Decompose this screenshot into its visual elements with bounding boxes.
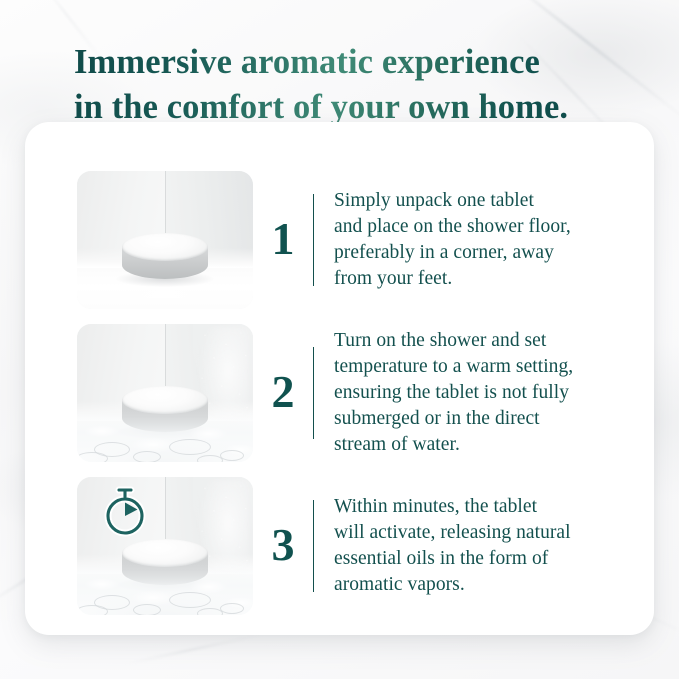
foam-bubble: [77, 452, 108, 462]
steps-list: 1 Simply unpack one tablet and place on …: [77, 170, 622, 616]
water-foam: [77, 407, 253, 462]
shower-tablet: [122, 233, 208, 279]
tablet-top: [122, 233, 208, 261]
foam-bubble: [197, 608, 223, 615]
foam-bubble: [169, 592, 211, 608]
foam-bubble: [220, 450, 244, 461]
step-item: 1 Simply unpack one tablet and place on …: [77, 170, 622, 310]
page-headline: Immersive aromatic experience in the com…: [74, 40, 634, 130]
foam-bubble: [169, 439, 211, 455]
step-2-image: [77, 324, 253, 462]
step-3-image: [77, 477, 253, 615]
step-description: Within minutes, the tablet will activate…: [334, 494, 622, 599]
water-foam: [77, 560, 253, 615]
step-item: 2 Turn on the shower and set temperature…: [77, 323, 622, 463]
foam-bubble: [77, 605, 108, 615]
foam-bubble: [220, 603, 244, 614]
marble-vein: [121, 632, 268, 665]
step-number: 3: [253, 522, 313, 570]
step-description: Turn on the shower and set temperature t…: [334, 328, 622, 459]
step-number: 2: [253, 369, 313, 417]
instructions-card: 1 Simply unpack one tablet and place on …: [25, 122, 654, 635]
step-item: 3 Within minutes, the tablet will activa…: [77, 476, 622, 616]
foam-bubble: [133, 604, 161, 615]
step-divider: [313, 194, 314, 286]
foam-bubble: [197, 455, 223, 462]
step-divider: [313, 500, 314, 592]
step-description: Simply unpack one tablet and place on th…: [334, 188, 622, 293]
step-divider: [313, 347, 314, 439]
step-number: 1: [253, 216, 313, 264]
foam-bubble: [133, 451, 161, 462]
step-1-image: [77, 171, 253, 309]
stopwatch-icon: [99, 483, 151, 539]
